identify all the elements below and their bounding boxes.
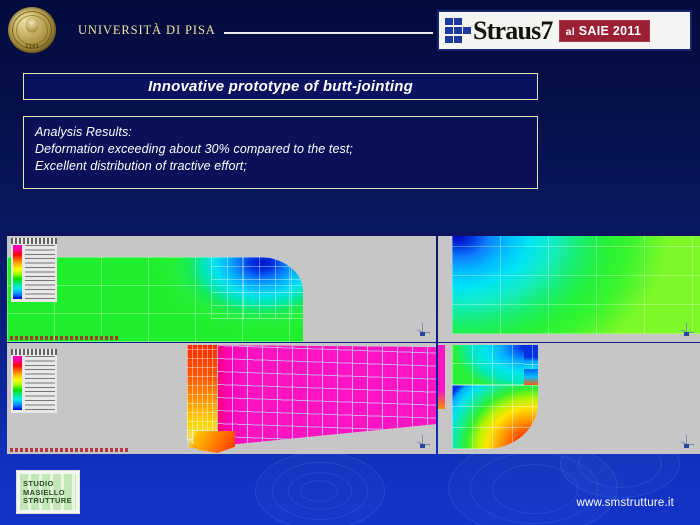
- straus7-wordmark: Straus7: [473, 18, 553, 44]
- slide-header: 1343 UNIVERSITÀ DI PISA Straus7 al SAIE …: [0, 0, 700, 62]
- legend-header-text: [11, 238, 57, 244]
- legend-colour-bar: [13, 356, 22, 410]
- fea-contour-block-upper-region: [452, 345, 524, 385]
- logo-text: STUDIO MASIELLO STRUTTURE: [23, 480, 76, 506]
- results-line-traction: Excellent distribution of tractive effor…: [35, 158, 537, 175]
- mesh-grid-refined: [211, 257, 303, 319]
- contour-colour-scale: [11, 238, 57, 302]
- axis-triad-icon: [416, 435, 430, 449]
- mesh-bar-carryover: [438, 345, 445, 409]
- results-line-heading: Analysis Results:: [35, 124, 537, 141]
- stress-concentration-foot: [193, 431, 235, 453]
- straus7-pixel-grid-icon: [445, 18, 471, 44]
- fea-panel-bottom-left: [7, 343, 436, 454]
- website-url[interactable]: www.smstrutture.it: [576, 497, 674, 509]
- mesh-grid-overlay: [452, 236, 700, 334]
- panel-top-strip: [7, 232, 436, 236]
- panel-status-caption: [10, 448, 128, 452]
- studio-masiello-logo: STUDIO MASIELLO STRUTTURE: [16, 470, 80, 514]
- legend-header-text: [11, 349, 57, 355]
- axis-triad-icon: [680, 435, 694, 449]
- legend-tick-labels: [25, 356, 55, 410]
- fea-panel-top-left: [7, 232, 436, 342]
- straus7-logo: Straus7 al SAIE 2011: [437, 10, 692, 51]
- seal-emblem-figure: [26, 18, 39, 33]
- fea-panel-top-right: [438, 232, 700, 342]
- saie-banner-prefix: al: [566, 26, 575, 38]
- university-seal-icon: 1343: [8, 7, 56, 53]
- fea-contour-specimen-top-right: [452, 236, 700, 334]
- saie-banner-event: SAIE 2011: [579, 24, 641, 38]
- mesh-grid-overlay: [452, 345, 524, 385]
- axis-triad-icon: [680, 323, 694, 337]
- legend-colour-bar: [13, 245, 22, 299]
- panel-status-caption: [10, 336, 118, 340]
- legend-tick-labels: [25, 245, 55, 299]
- slide-title-box: Innovative prototype of butt-jointing: [23, 73, 538, 100]
- header-divider-line: [224, 32, 433, 34]
- fea-figure-group: [7, 232, 700, 454]
- analysis-results-box: Analysis Results: Deformation exceeding …: [23, 116, 538, 189]
- ripple-decor: [300, 480, 338, 502]
- contour-colour-scale: [11, 349, 57, 413]
- fea-contour-notch-region: [524, 369, 538, 385]
- fea-panel-bottom-right: [438, 343, 700, 454]
- seal-date: 1343: [8, 44, 56, 50]
- results-line-deformation: Deformation exceeding about 30% compared…: [35, 141, 537, 158]
- university-name: UNIVERSITÀ DI PISA: [78, 23, 216, 38]
- page-title: Innovative prototype of butt-jointing: [148, 78, 413, 95]
- slide-canvas: 1343 UNIVERSITÀ DI PISA Straus7 al SAIE …: [0, 0, 700, 525]
- axis-triad-icon: [416, 323, 430, 337]
- saie-banner: al SAIE 2011: [559, 20, 651, 42]
- logo-line-3: STRUTTURE: [23, 497, 76, 506]
